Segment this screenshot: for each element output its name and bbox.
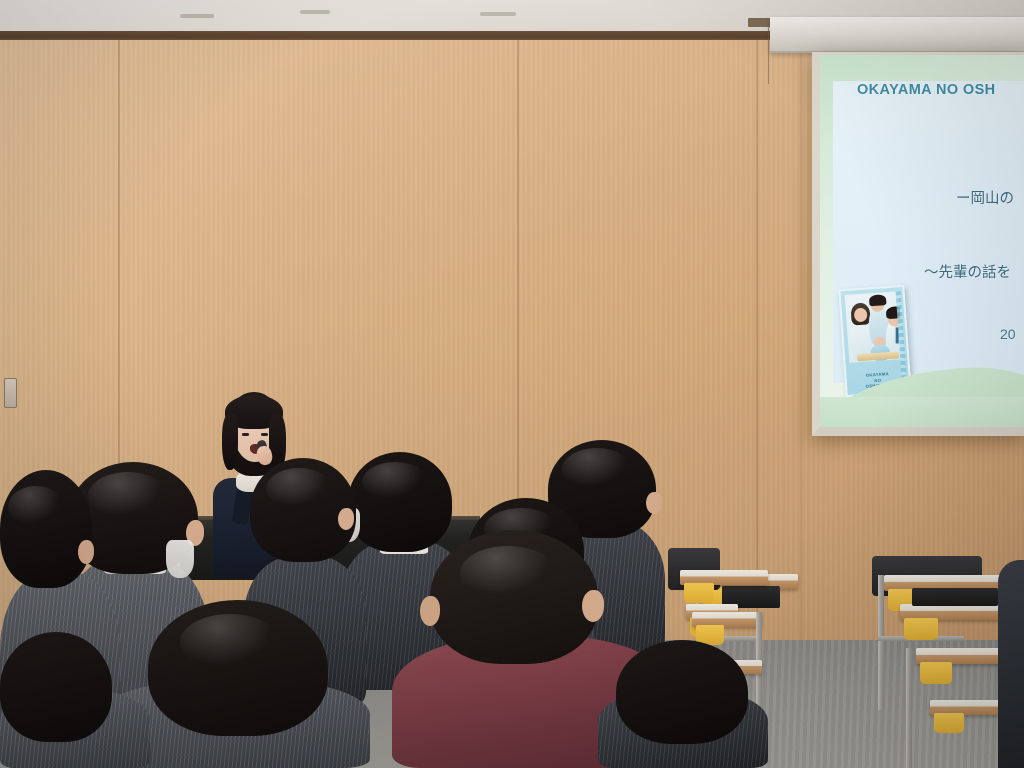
projector-screen-casing [770, 17, 1024, 53]
student-far-right [998, 560, 1024, 768]
screen-frame [812, 52, 1024, 436]
screen-pull-cord [768, 26, 769, 84]
presenter-eye-left [242, 433, 249, 436]
presenter-eye-right [261, 433, 268, 436]
projection-screen: OKAYAMA NO OSH ー岡山の 〜先輩の話を 20 [812, 52, 1024, 436]
presenter-sidelock-left [222, 414, 238, 470]
lecture-hall-photo: OKAYAMA NO OSH ー岡山の 〜先輩の話を 20 [0, 0, 1024, 768]
wall-switch-plate-icon [4, 378, 17, 408]
